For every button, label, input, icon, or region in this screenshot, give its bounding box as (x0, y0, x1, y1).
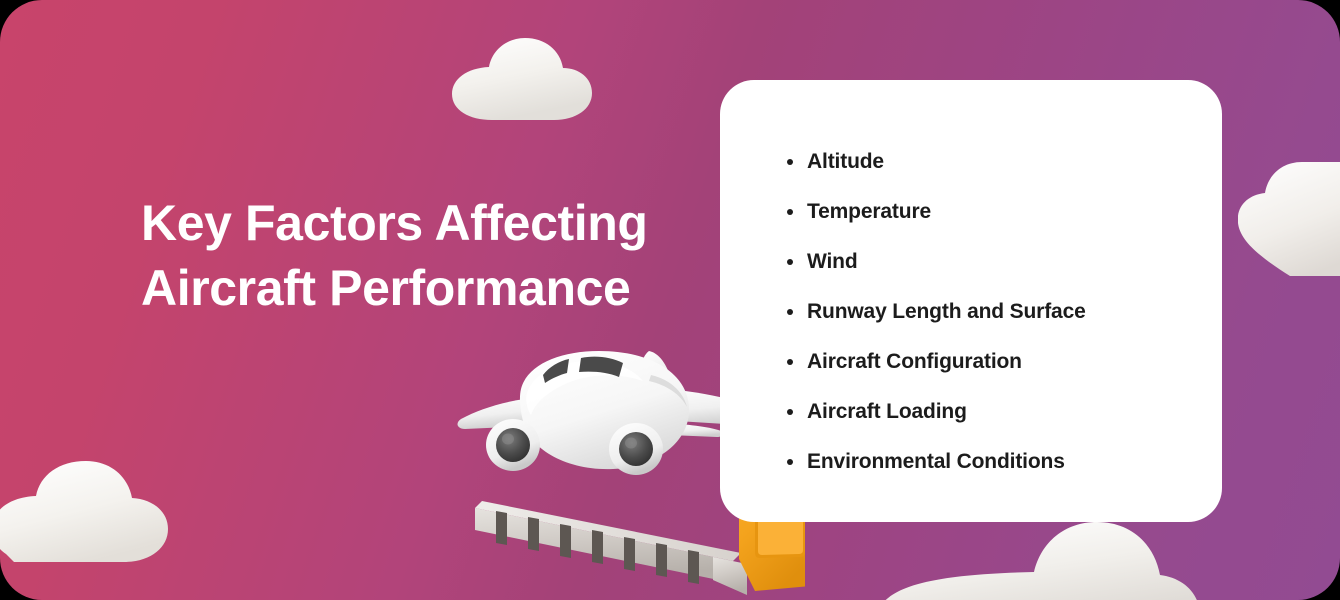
slide-canvas: Key Factors Affecting Aircraft Performan… (0, 0, 1340, 600)
list-item-label: Wind (807, 250, 858, 274)
factors-list: Altitude Temperature Wind Runway Length … (787, 137, 1202, 487)
cloud-top-icon (448, 36, 596, 122)
list-item: Aircraft Configuration (787, 337, 1202, 387)
list-item-label: Runway Length and Surface (807, 300, 1086, 324)
list-item-label: Altitude (807, 150, 884, 174)
bullet-icon (787, 159, 793, 165)
left-engine (486, 419, 540, 471)
page-title: Key Factors Affecting Aircraft Performan… (141, 191, 661, 321)
cloud-bottom-right-icon (872, 520, 1202, 600)
factors-card: Altitude Temperature Wind Runway Length … (720, 80, 1222, 522)
list-item-label: Aircraft Configuration (807, 350, 1022, 374)
bullet-icon (787, 259, 793, 265)
list-item: Environmental Conditions (787, 437, 1202, 487)
cloud-right-icon (1238, 162, 1340, 278)
runway-strip (475, 501, 747, 595)
bullet-icon (787, 359, 793, 365)
cloud-bottom-left-icon (0, 424, 170, 564)
list-item-label: Aircraft Loading (807, 400, 967, 424)
bullet-icon (787, 459, 793, 465)
list-item: Runway Length and Surface (787, 287, 1202, 337)
list-item-label: Environmental Conditions (807, 450, 1065, 474)
list-item: Temperature (787, 187, 1202, 237)
list-item: Wind (787, 237, 1202, 287)
bullet-icon (787, 209, 793, 215)
list-item: Aircraft Loading (787, 387, 1202, 437)
bullet-icon (787, 309, 793, 315)
list-item-label: Temperature (807, 200, 931, 224)
list-item: Altitude (787, 137, 1202, 187)
bullet-icon (787, 409, 793, 415)
right-engine (609, 423, 663, 475)
